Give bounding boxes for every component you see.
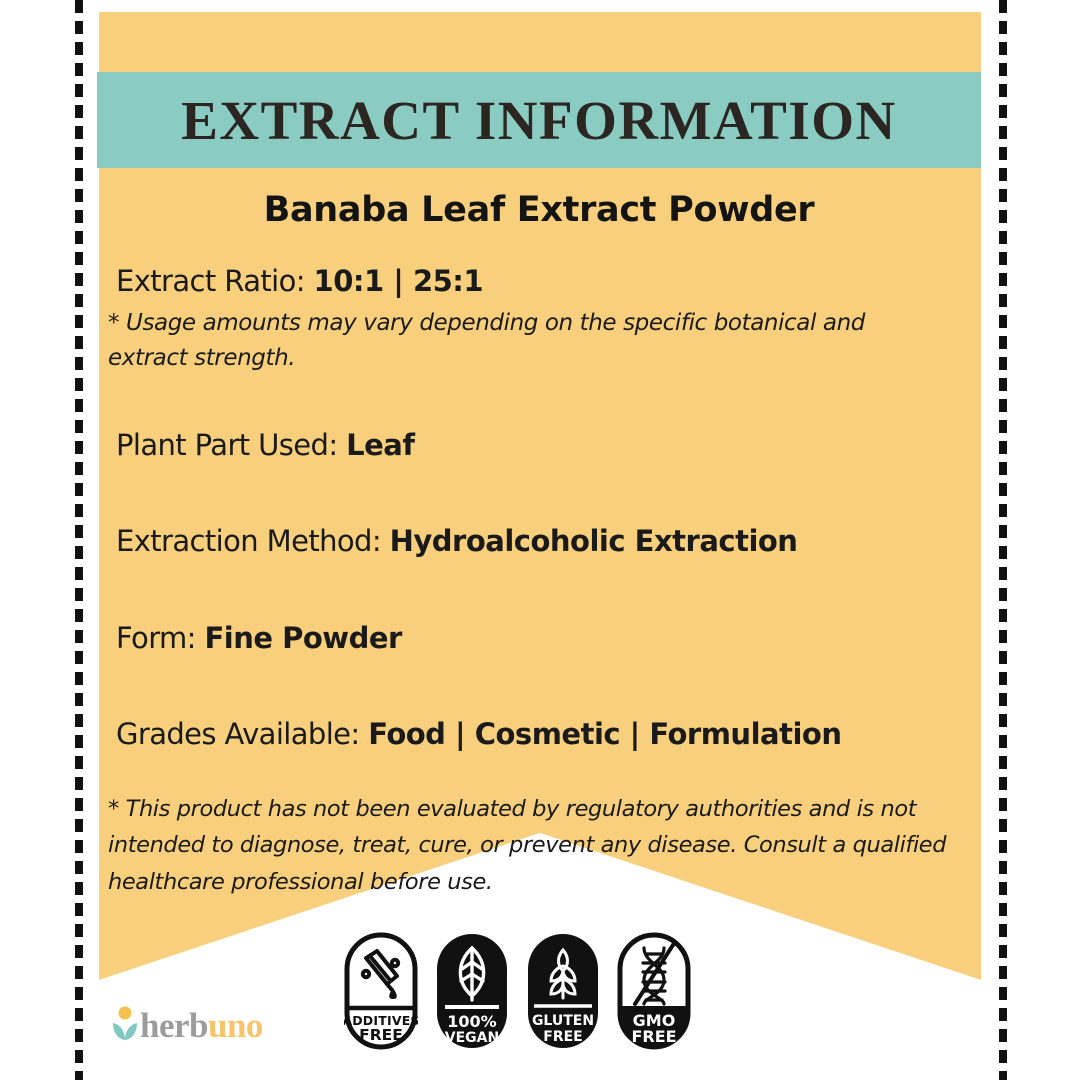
brand-logo[interactable]: herbuno <box>110 1004 263 1046</box>
badge-gluten-free: GLUTEN FREE <box>526 932 600 1050</box>
spec-value: 10:1 | 25:1 <box>314 264 484 298</box>
badge-line2: FREE <box>359 1026 403 1044</box>
legal-disclaimer: * This product has not been evaluated by… <box>108 791 960 900</box>
badge-line2: FREE <box>543 1029 582 1045</box>
page-title: EXTRACT INFORMATION <box>181 89 897 152</box>
logo-text-secondary: uno <box>208 1006 263 1045</box>
spec-value: Hydroalcoholic Extraction <box>390 524 798 558</box>
spec-value: Food | Cosmetic | Formulation <box>368 717 841 751</box>
spec-label: Grades Available: <box>116 717 368 751</box>
product-name: Banaba Leaf Extract Powder <box>108 190 970 230</box>
logo-wordmark: herbuno <box>140 1008 263 1043</box>
certification-badges: ADDITIVES FREE 100% VEGAN <box>344 932 691 1050</box>
spec-label: Form: <box>116 621 204 655</box>
dashed-border-left <box>75 0 83 1080</box>
badge-gmo-free: GMO FREE <box>617 932 691 1050</box>
badge-vegan: 100% VEGAN <box>435 932 509 1050</box>
spec-row-plant-part: Plant Part Used: Leaf <box>116 428 970 462</box>
spec-label: Extraction Method: <box>116 524 390 558</box>
badge-line1: 100% <box>447 1012 496 1031</box>
poster-canvas: EXTRACT INFORMATION Banaba Leaf Extract … <box>0 0 1080 1080</box>
badge-line1: GLUTEN <box>532 1013 594 1029</box>
sprout-icon <box>110 1004 140 1046</box>
header-band: EXTRACT INFORMATION <box>97 72 981 168</box>
spec-label: Plant Part Used: <box>116 428 346 462</box>
spec-row-extract-ratio: Extract Ratio: 10:1 | 25:1 <box>116 264 970 298</box>
spec-row-form: Form: Fine Powder <box>116 621 970 655</box>
usage-note: * Usage amounts may vary depending on th… <box>108 306 948 376</box>
logo-text-primary: herb <box>140 1006 208 1045</box>
spec-row-extraction-method: Extraction Method: Hydroalcoholic Extrac… <box>116 524 970 558</box>
badge-line2: VEGAN <box>445 1030 499 1046</box>
dashed-border-right <box>999 0 1007 1080</box>
spec-value: Leaf <box>346 428 414 462</box>
badge-line2: FREE <box>631 1027 676 1046</box>
spec-row-grades: Grades Available: Food | Cosmetic | Form… <box>116 717 970 751</box>
spec-label: Extract Ratio: <box>116 264 314 298</box>
badge-additives-free: ADDITIVES FREE <box>344 932 418 1050</box>
content-area: Banaba Leaf Extract Powder Extract Ratio… <box>108 190 970 900</box>
spec-value: Fine Powder <box>204 621 401 655</box>
